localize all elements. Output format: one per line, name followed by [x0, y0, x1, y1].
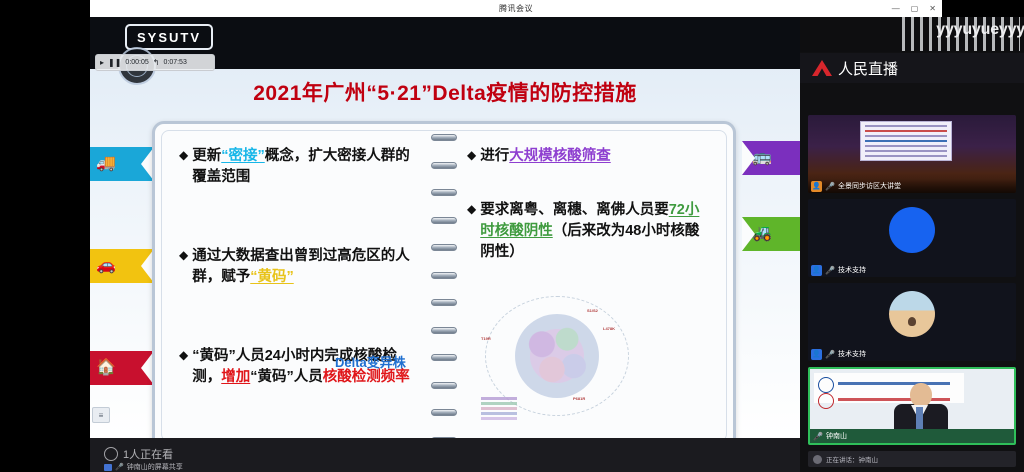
window-controls: — ▢ ✕ — [892, 0, 936, 17]
viewer-count-text: 1人正在看 — [123, 446, 173, 462]
broadcaster-name: 人民直播 — [838, 58, 898, 79]
bullet-left-2: ◆ 通过大数据查出曾到过高危区的人群，赋予“黄码” — [179, 246, 415, 288]
renmin-logo-icon — [812, 60, 832, 76]
mic-muted-icon: 🎤 — [825, 182, 835, 191]
panel-collapse-handle[interactable]: ≡ — [92, 407, 110, 423]
bullet-marker-icon: ◆ — [179, 246, 188, 265]
ribbon-tractor: 🚜 — [742, 217, 800, 251]
speaking-indicator-bar[interactable]: 正在讲话：钟南山 — [808, 451, 1016, 467]
bullet-marker-icon: ◆ — [179, 346, 188, 365]
elapsed-time: 0:00:05 — [125, 59, 148, 66]
notebook-spiral — [431, 134, 457, 438]
screenshot-root: 腾讯会议 — ▢ ✕ SYSUTV ▸ ❚❚ 0:00:05 ↰ 0:07:53 — [0, 0, 1024, 472]
truck-icon: 🚚 — [96, 153, 116, 175]
bullet-right-1-text: 进行大规模核酸筛查 — [480, 146, 703, 167]
broadcaster-badge: 人民直播 — [800, 53, 1024, 83]
total-time: 0:07:53 — [163, 59, 186, 66]
desktop-left-gutter — [0, 0, 90, 472]
virus-legend — [481, 397, 521, 422]
host-badge-icon: 👤 — [811, 181, 822, 192]
bullet-right-2-text: 要求离粤、离穗、离佛人员要72小时核酸阴性（后来改为48小时核酸阴性） — [480, 200, 703, 263]
avatar — [813, 455, 822, 464]
window-title: 腾讯会议 — [499, 3, 533, 14]
bullet-marker-icon: ◆ — [467, 200, 476, 219]
speaking-indicator-text: 正在讲话：钟南山 — [826, 454, 878, 464]
participant-name: 技术支持 — [838, 349, 866, 359]
participant-tile[interactable]: 👤 🎤 技术支持 — [808, 283, 1016, 361]
participant-badge-icon: 👤 — [811, 349, 822, 360]
bullet-left-2-text: 通过大数据查出曾到过高危区的人群，赋予“黄码” — [192, 246, 415, 288]
screen-share-icon — [104, 464, 112, 471]
stream-bottom-bar: 1人正在看 🎤 钟南山的屏幕共享 — [90, 438, 800, 472]
tractor-icon: 🚜 — [752, 223, 772, 245]
bullet-left-1-text: 更新“密接”概念，扩大密接人群的覆盖范围 — [192, 146, 415, 188]
participant-tile[interactable]: 👤 🎤 技术支持 — [808, 199, 1016, 277]
bullet-right-1: ◆ 进行大规模核酸筛查 — [467, 146, 703, 167]
play-icon[interactable]: ▸ — [100, 59, 104, 67]
house-icon: 🏠 — [96, 357, 116, 379]
rewind-icon[interactable]: ↰ — [153, 59, 160, 67]
participant-tile-active-speaker[interactable]: 🎤 钟南山 — [808, 367, 1016, 445]
avatar — [889, 291, 935, 337]
notebook-card: ◆ 更新“密接”概念，扩大密接人群的覆盖范围 ◆ 通过大数据查出曾到过高危区的人… — [152, 121, 736, 438]
car-icon: 🚗 — [96, 255, 116, 277]
maximize-icon[interactable]: ▢ — [911, 5, 919, 13]
minimize-icon[interactable]: — — [892, 5, 900, 13]
tile-label: 👤 🎤 技术支持 — [808, 347, 869, 361]
pause-icon[interactable]: ❚❚ — [108, 59, 121, 67]
figure-caption: Delta变异株 — [335, 352, 406, 371]
close-icon[interactable]: ✕ — [929, 5, 936, 13]
mic-muted-icon: 🎤 — [825, 350, 835, 359]
bilibili-logo-icon — [902, 17, 1020, 51]
bullet-left-1: ◆ 更新“密接”概念，扩大密接人群的覆盖范围 — [179, 146, 415, 188]
tile-screen-content — [860, 121, 952, 161]
participant-badge-icon: 👤 — [811, 265, 822, 276]
meeting-window-body: SYSUTV ▸ ❚❚ 0:00:05 ↰ 0:07:53 2021年广州“5·… — [90, 17, 1024, 472]
bullet-marker-icon: ◆ — [179, 146, 188, 165]
mic-muted-icon: 🎤 — [825, 266, 835, 275]
mic-icon: 🎤 — [115, 463, 124, 471]
slide-title: 2021年广州“5·21”Delta疫情的防控措施 — [90, 77, 800, 107]
tile-label: 👤 🎤 技术支持 — [808, 263, 869, 277]
ribbon-bus: 🚌 — [742, 141, 800, 175]
avatar — [889, 207, 935, 253]
bus-icon: 🚌 — [752, 147, 772, 169]
window-titlebar: 腾讯会议 — ▢ ✕ — [90, 0, 942, 17]
ribbon-truck: 🚚 — [90, 147, 154, 181]
bullet-right-2: ◆ 要求离粤、离穗、离佛人员要72小时核酸阴性（后来改为48小时核酸阴性） — [467, 200, 703, 263]
viewer-count-group: 1人正在看 — [104, 446, 173, 462]
mic-active-icon: 🎤 — [813, 432, 823, 441]
tile-label: 👤 🎤 全景同步访区大讲堂 — [808, 179, 904, 193]
share-notice-text: 钟南山的屏幕共享 — [127, 462, 183, 472]
share-notice-group: 🎤 钟南山的屏幕共享 — [104, 462, 183, 472]
virus-illustration: S1/S2 L478K T19R P681R — [477, 292, 637, 422]
tile-label: 🎤 钟南山 — [810, 429, 850, 443]
ribbon-house: 🏠 — [90, 351, 154, 385]
participant-name: 技术支持 — [838, 265, 866, 275]
participant-name: 全景同步访区大讲堂 — [838, 181, 901, 191]
titlebar-right-filler — [942, 0, 1024, 17]
media-control-overlay[interactable]: ▸ ❚❚ 0:00:05 ↰ 0:07:53 — [95, 54, 215, 71]
eye-icon — [104, 447, 118, 461]
sysutv-logo-text: SYSUTV — [137, 30, 201, 45]
participant-rail: yyyuyueyyy 人民直播 👤 🎤 全景同步访区大讲堂 — [800, 17, 1024, 472]
watermark-band: yyyuyueyyy — [800, 17, 1024, 52]
participant-name: 钟南山 — [826, 431, 847, 441]
participant-tile[interactable]: 👤 🎤 全景同步访区大讲堂 — [808, 115, 1016, 193]
ribbon-car: 🚗 — [90, 249, 154, 283]
bullet-marker-icon: ◆ — [467, 146, 476, 165]
shared-screen-area[interactable]: SYSUTV ▸ ❚❚ 0:00:05 ↰ 0:07:53 2021年广州“5·… — [90, 17, 800, 438]
